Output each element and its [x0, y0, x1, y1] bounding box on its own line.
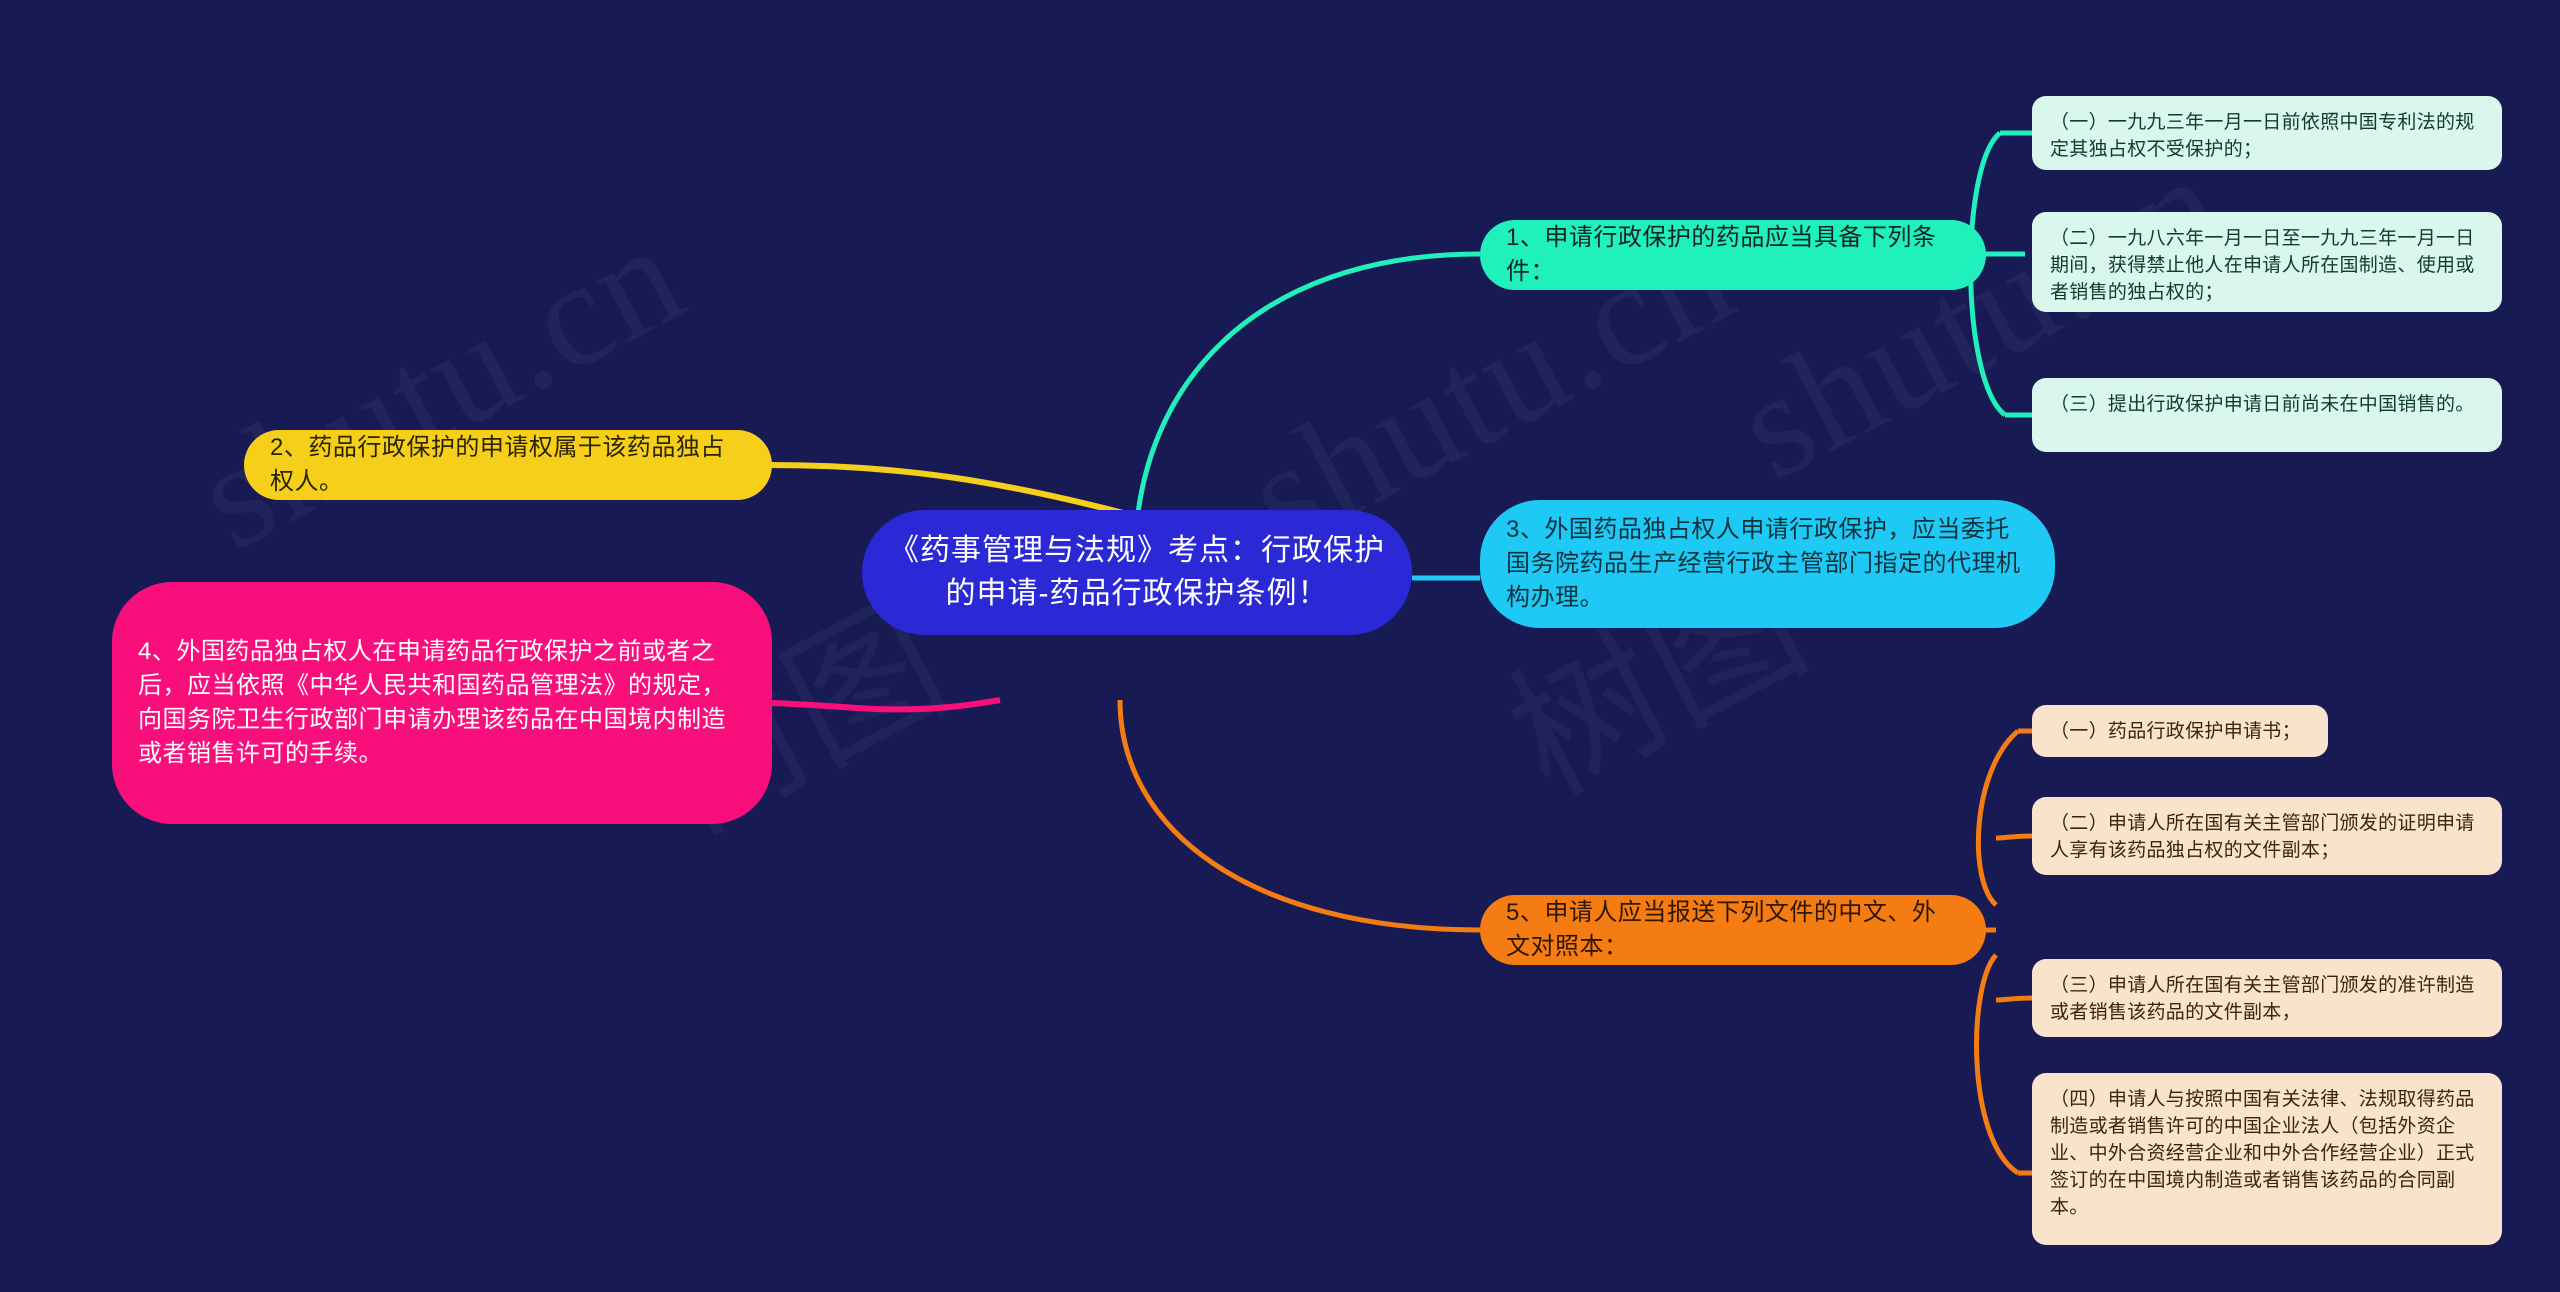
branch-node-3-label: 3、外国药品独占权人申请行政保护，应当委托国务院药品生产经营行政主管部门指定的代…: [1506, 513, 2029, 615]
leaf-node-1-3-label: （三）提出行政保护申请日前尚未在中国销售的。: [2050, 392, 2484, 419]
leaf-node-1-2[interactable]: （二）一九八六年一月一日至一九九三年一月一日期间，获得禁止他人在申请人所在国制造…: [2032, 212, 2502, 312]
connector-branch-5-stub-2: [1996, 836, 2032, 838]
watermark-text: shutu.cn: [170, 188, 710, 584]
leaf-node-1-1[interactable]: （一）一九九三年一月一日前依照中国专利法的规定其独占权不受保护的；: [2032, 96, 2502, 170]
watermark-text: shutu.cn: [1710, 118, 2250, 514]
branch-node-4[interactable]: 4、外国药品独占权人在申请药品行政保护之前或者之后，应当依照《中华人民共和国药品…: [112, 582, 772, 824]
connector-branch-5-spine-up: [1978, 731, 2018, 905]
leaf-node-5-3[interactable]: （三）申请人所在国有关主管部门颁发的准许制造或者销售该药品的文件副本，: [2032, 959, 2502, 1037]
branch-node-2-label: 2、药品行政保护的申请权属于该药品独占权人。: [270, 431, 746, 499]
leaf-node-5-1-label: （一）药品行政保护申请书；: [2050, 719, 2310, 746]
leaf-node-5-4-label: （四）申请人与按照中国有关法律、法规取得药品制造或者销售许可的中国企业法人（包括…: [2050, 1087, 2484, 1222]
leaf-node-5-1[interactable]: （一）药品行政保护申请书；: [2032, 705, 2328, 757]
connector-branch-5-stub-3: [1996, 998, 2032, 1000]
leaf-node-5-2-label: （二）申请人所在国有关主管部门颁发的证明申请人享有该药品独占权的文件副本；: [2050, 811, 2484, 865]
branch-node-1[interactable]: 1、申请行政保护的药品应当具备下列条件：: [1480, 220, 1986, 290]
branch-node-5[interactable]: 5、申请人应当报送下列文件的中文、外文对照本：: [1480, 895, 1986, 965]
connector-center-branch-5: [1120, 700, 1480, 930]
leaf-node-1-1-label: （一）一九九三年一月一日前依照中国专利法的规定其独占权不受保护的；: [2050, 110, 2484, 164]
connector-center-branch-4: [770, 700, 1000, 709]
branch-node-1-label: 1、申请行政保护的药品应当具备下列条件：: [1506, 221, 1960, 289]
leaf-node-5-4[interactable]: （四）申请人与按照中国有关法律、法规取得药品制造或者销售许可的中国企业法人（包括…: [2032, 1073, 2502, 1245]
center-node[interactable]: 《药事管理与法规》考点：行政保护的申请-药品行政保护条例！: [862, 510, 1412, 635]
mindmap-canvas: shutu.cn shutu.cn shutu.cn 树图 树图 《药事管理与法…: [0, 0, 2560, 1292]
branch-node-5-label: 5、申请人应当报送下列文件的中文、外文对照本：: [1506, 896, 1960, 964]
branch-node-4-label: 4、外国药品独占权人在申请药品行政保护之前或者之后，应当依照《中华人民共和国药品…: [138, 635, 746, 771]
branch-node-2[interactable]: 2、药品行政保护的申请权属于该药品独占权人。: [244, 430, 772, 500]
connector-branch-5-spine-down: [1977, 955, 2018, 1173]
leaf-node-5-2[interactable]: （二）申请人所在国有关主管部门颁发的证明申请人享有该药品独占权的文件副本；: [2032, 797, 2502, 875]
leaf-node-1-2-label: （二）一九八六年一月一日至一九九三年一月一日期间，获得禁止他人在申请人所在国制造…: [2050, 226, 2484, 307]
center-node-label: 《药事管理与法规》考点：行政保护的申请-药品行政保护条例！: [888, 530, 1386, 615]
leaf-node-1-3[interactable]: （三）提出行政保护申请日前尚未在中国销售的。: [2032, 378, 2502, 452]
leaf-node-5-3-label: （三）申请人所在国有关主管部门颁发的准许制造或者销售该药品的文件副本，: [2050, 973, 2484, 1027]
branch-node-3[interactable]: 3、外国药品独占权人申请行政保护，应当委托国务院药品生产经营行政主管部门指定的代…: [1480, 500, 2055, 628]
